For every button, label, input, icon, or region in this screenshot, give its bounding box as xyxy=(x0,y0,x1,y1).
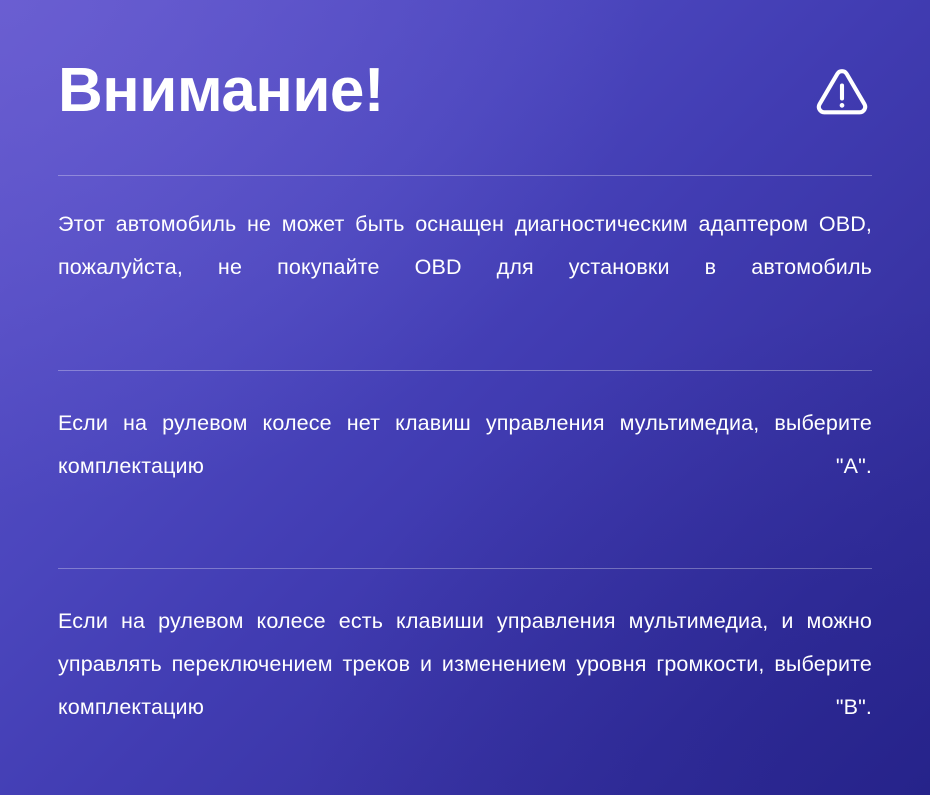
warning-notice-card: Внимание! Этот автомобиль не может быть … xyxy=(0,0,930,795)
notice-block-3: Если на рулевом колесе есть клавиши упра… xyxy=(58,569,872,772)
warning-triangle-icon xyxy=(813,62,872,120)
notice-header: Внимание! xyxy=(58,0,872,175)
notice-block-2: Если на рулевом колесе нет клавиш управл… xyxy=(58,371,872,568)
notice-content: Внимание! Этот автомобиль не может быть … xyxy=(0,0,930,772)
page-title: Внимание! xyxy=(58,60,384,122)
notice-text-trim-option-b: Если на рулевом колесе есть клавиши упра… xyxy=(58,600,872,772)
notice-text-obd-adapter-warning: Этот автомобиль не может быть оснащен ди… xyxy=(58,203,872,332)
notice-block-1: Этот автомобиль не может быть оснащен ди… xyxy=(58,176,872,370)
notice-text-trim-option-a: Если на рулевом колесе нет клавиш управл… xyxy=(58,402,872,531)
